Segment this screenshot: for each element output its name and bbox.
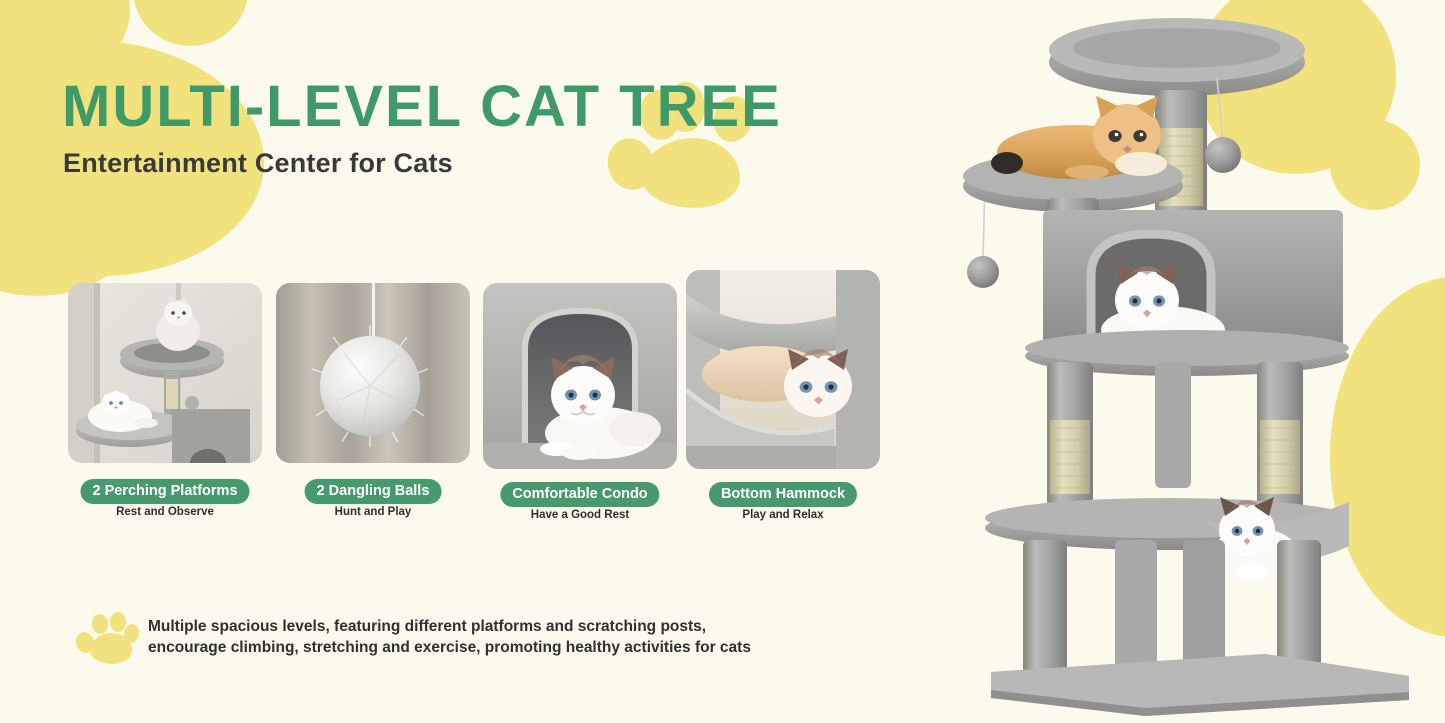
- feature-list: 2 Perching Platforms Rest and Observe: [68, 265, 898, 525]
- feature-thumbnail: [686, 270, 880, 469]
- feature-thumbnail: [276, 283, 470, 463]
- feature-caption: Have a Good Rest: [531, 509, 629, 521]
- feature-pill-label: 2 Perching Platforms: [80, 479, 249, 504]
- feature-pill-label: Bottom Hammock: [709, 482, 857, 507]
- feature-thumbnail: [483, 283, 677, 469]
- feature-caption: Hunt and Play: [335, 506, 412, 518]
- page-title: MULTI-LEVEL CAT TREE: [62, 78, 782, 136]
- feature-pill-label: 2 Dangling Balls: [305, 479, 442, 504]
- product-description: Multiple spacious levels, featuring diff…: [148, 617, 788, 658]
- feature-caption: Play and Relax: [742, 509, 823, 521]
- hero-product-image: [955, 0, 1445, 723]
- feature-pill-label: Comfortable Condo: [500, 482, 659, 507]
- feature-caption: Rest and Observe: [116, 506, 214, 518]
- feature-thumbnail: [68, 283, 262, 463]
- decor-blob: [133, 0, 248, 46]
- description-line-1: Multiple spacious levels, featuring diff…: [148, 617, 788, 638]
- infographic-canvas: MULTI-LEVEL CAT TREE Entertainment Cente…: [0, 0, 1445, 723]
- paw-print-icon: [76, 608, 138, 670]
- page-subtitle: Entertainment Center for Cats: [63, 148, 453, 179]
- description-line-2: encourage climbing, stretching and exerc…: [148, 638, 788, 659]
